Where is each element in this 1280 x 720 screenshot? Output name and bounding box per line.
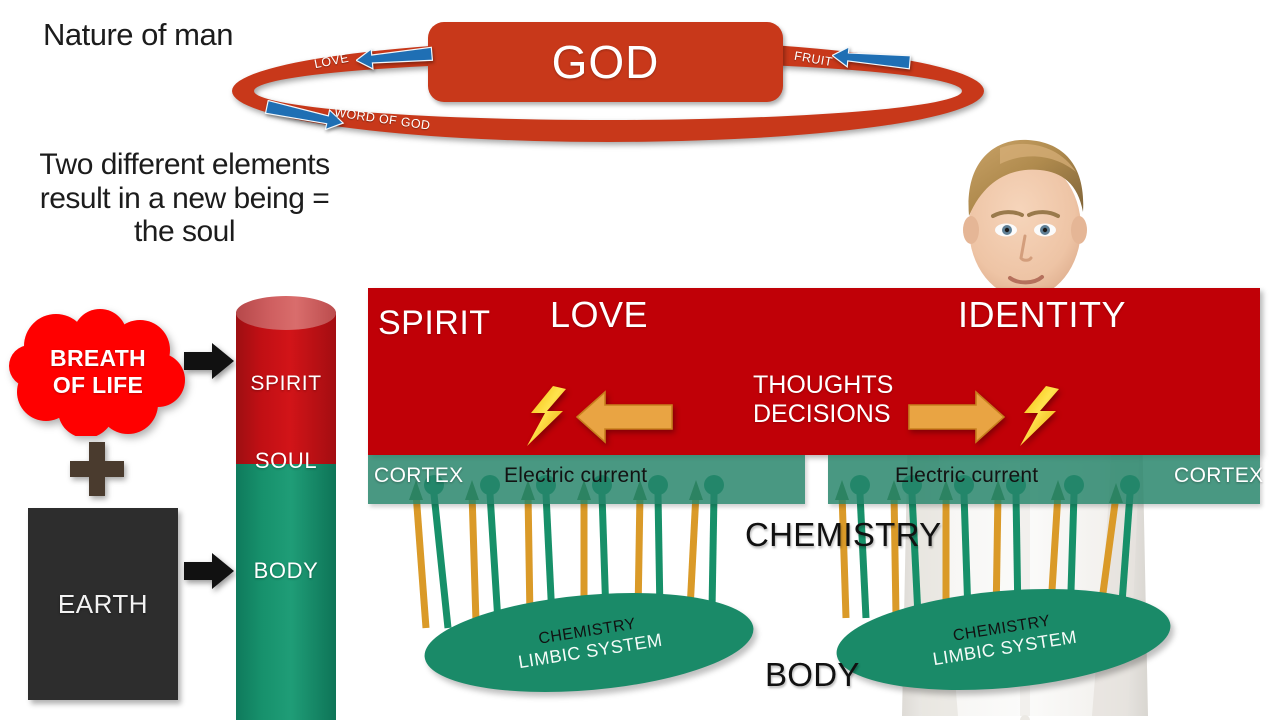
love-arrow-icon xyxy=(356,44,434,70)
god-label: GOD xyxy=(552,35,660,89)
cylinder-label-spirit: SPIRIT xyxy=(236,372,336,396)
god-box: GOD xyxy=(428,22,783,102)
soul-cylinder xyxy=(236,296,336,720)
electric-current-label-left: Electric current xyxy=(504,464,647,488)
earth-label: EARTH xyxy=(58,589,148,620)
electric-current-label-right: Electric current xyxy=(895,464,1038,488)
cylinder-label-soul: SOUL xyxy=(236,448,336,474)
arrow-earth-to-body-icon xyxy=(184,552,236,590)
chemistry-heading: CHEMISTRY xyxy=(745,516,941,554)
cortex-label-right: CORTEX xyxy=(1174,464,1264,488)
plus-sign-icon xyxy=(68,440,126,498)
slide-subtitle: Two different elements result in a new b… xyxy=(22,148,347,249)
cylinder-top-ellipse xyxy=(236,296,336,330)
breath-line-1: BREATH xyxy=(50,345,146,372)
cylinder-label-body: BODY xyxy=(236,558,336,584)
breath-of-life-label: BREATH OF LIFE xyxy=(8,308,188,436)
page-title: Nature of man xyxy=(43,18,233,53)
body-heading: BODY xyxy=(765,656,860,694)
breath-line-2: OF LIFE xyxy=(53,372,143,399)
cortex-label-left: CORTEX xyxy=(374,464,464,488)
cylinder-body-section xyxy=(236,456,336,720)
fruit-arrow-icon xyxy=(832,46,912,72)
arrow-breath-to-spirit-icon xyxy=(184,342,236,380)
earth-box: EARTH xyxy=(28,508,178,700)
slide-canvas: Nature of man Two different elements res… xyxy=(0,0,1280,720)
god-cycle-diagram: GOD LOVE FRUIT xyxy=(232,12,992,142)
